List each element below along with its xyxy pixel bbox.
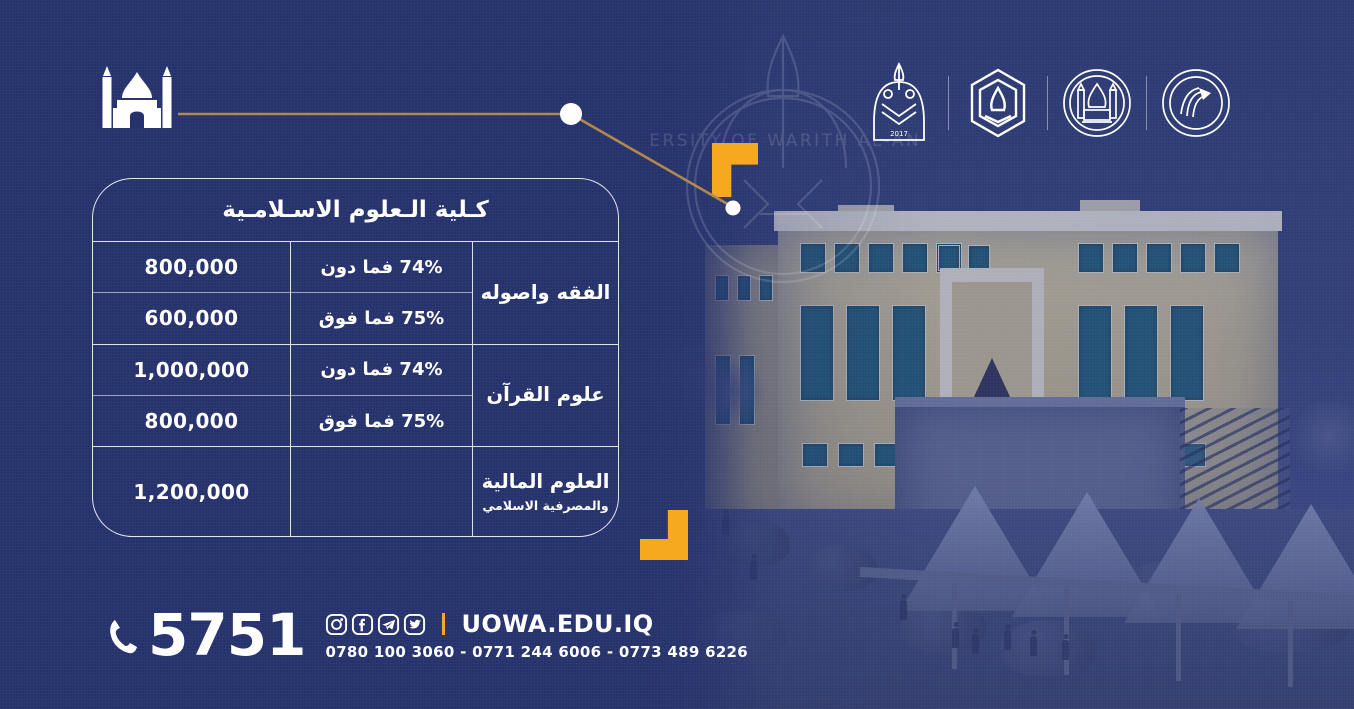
table-cell-fee: 800,000 — [93, 242, 290, 293]
subject-label: الفقه واصوله — [481, 281, 611, 305]
separator-bar — [442, 613, 445, 635]
svg-text:2017: 2017 — [890, 130, 908, 138]
logo-divider — [948, 76, 949, 130]
telegram-icon[interactable] — [377, 613, 400, 636]
table-cell-subject: العلوم المالية والمصرفية الاسلامي — [473, 447, 618, 536]
hotline-number: 5751 — [148, 611, 305, 661]
table-cell-percentage — [291, 447, 472, 536]
social-and-website: UOWA.EDU.IQ — [325, 610, 748, 638]
table-cell-subject: الفقه واصوله — [473, 242, 618, 345]
column-percentage: 74% فما دون 75% فما فوق 74% فما دون 75% … — [290, 242, 472, 536]
percentage-label: 74% فما دون — [320, 359, 442, 380]
contact-details: UOWA.EDU.IQ 0780 100 3060 - 0771 244 600… — [325, 610, 748, 661]
partner-logos: 2017 — [862, 60, 1233, 146]
table-cell-percentage: 74% فما دون — [291, 242, 472, 293]
subject-label: علوم القرآن — [486, 383, 604, 407]
table-cell-fee: 800,000 — [93, 396, 290, 447]
phone-icon — [108, 617, 138, 655]
social-links — [325, 613, 426, 636]
instagram-icon[interactable] — [325, 613, 348, 636]
percentage-label: 75% فما فوق — [319, 411, 444, 432]
table-cell-fee: 1,200,000 — [93, 447, 290, 536]
fee-amount: 800,000 — [145, 409, 239, 433]
phone-numbers: 0780 100 3060 - 0771 244 6006 - 0773 489… — [325, 643, 748, 661]
twitter-icon[interactable] — [403, 613, 426, 636]
table-cell-fee: 1,000,000 — [93, 345, 290, 396]
facebook-icon[interactable] — [351, 613, 374, 636]
logo-divider — [1146, 76, 1147, 130]
hotline-block: 5751 — [108, 611, 305, 661]
table-cell-fee: 600,000 — [93, 293, 290, 344]
column-fee: 800,000 600,000 1,000,000 800,000 1,200,… — [93, 242, 290, 536]
college-title: كـلية الـعلوم الاسـلامـية — [93, 179, 618, 241]
logo-ministry-higher-education — [1159, 60, 1233, 146]
fee-table-body: الفقه واصوله علوم القرآن العلوم المالية … — [93, 241, 618, 536]
logo-hexagon-pen — [961, 60, 1035, 146]
logo-warith-al-anbiya: 2017 — [862, 60, 936, 146]
subject-sublabel: والمصرفية الاسلامي — [482, 498, 608, 513]
logo-divider — [1047, 76, 1048, 130]
poster-canvas: UNIVERSITY OF WARITH AL-ANBIYA — [0, 0, 1354, 709]
contact-footer: 5751 — [108, 610, 748, 661]
table-cell-percentage: 75% فما فوق — [291, 396, 472, 447]
table-cell-subject: علوم القرآن — [473, 345, 618, 448]
subject-label: العلوم المالية — [482, 470, 610, 494]
mosque-icon — [96, 62, 178, 128]
percentage-label: 75% فما فوق — [319, 308, 444, 329]
fee-amount: 1,000,000 — [133, 358, 249, 382]
fee-amount: 1,200,000 — [133, 480, 249, 504]
table-cell-percentage: 75% فما فوق — [291, 293, 472, 344]
fee-table-card: كـلية الـعلوم الاسـلامـية الفقه واصوله ع… — [92, 178, 619, 537]
percentage-label: 74% فما دون — [320, 257, 442, 278]
fee-amount: 600,000 — [145, 306, 239, 330]
column-subject: الفقه واصوله علوم القرآن العلوم المالية … — [472, 242, 618, 536]
photo-left-fade — [600, 0, 780, 709]
website-link[interactable]: UOWA.EDU.IQ — [461, 610, 653, 638]
logo-al-ataba-al-abbasiyya — [1060, 60, 1134, 146]
fee-amount: 800,000 — [145, 255, 239, 279]
table-cell-percentage: 74% فما دون — [291, 345, 472, 396]
